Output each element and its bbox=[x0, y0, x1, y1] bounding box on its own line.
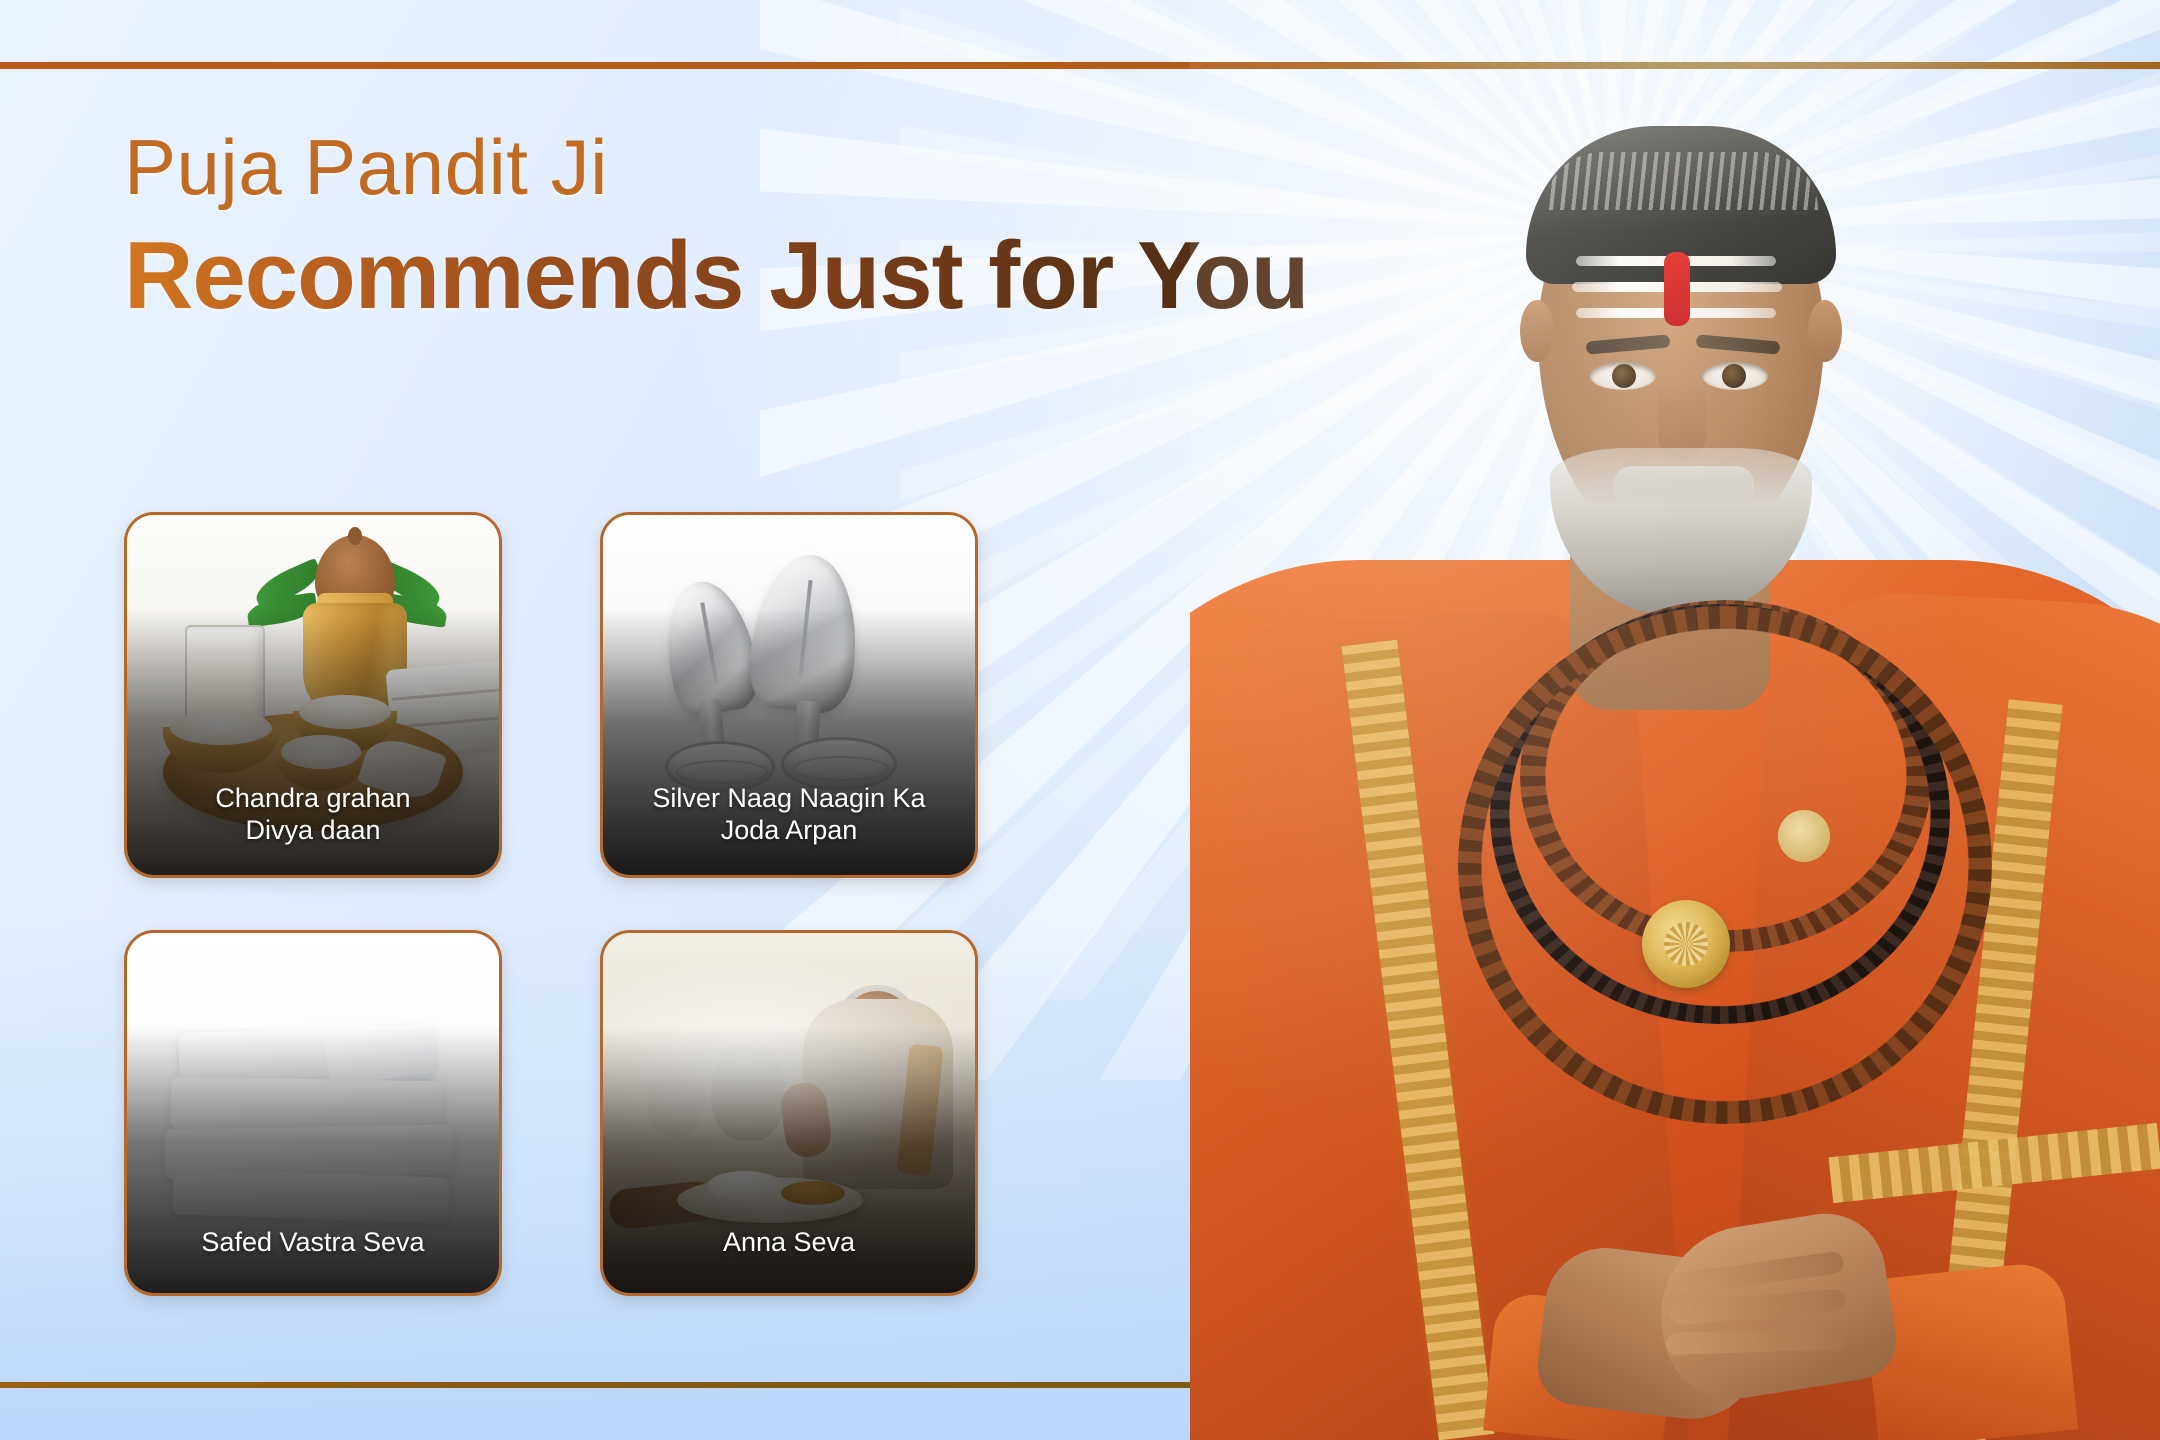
card-caption-line-1: Silver Naag Naagin Ka bbox=[615, 783, 963, 815]
small-gold-pendant bbox=[1778, 810, 1830, 862]
heading-line-2: Recommends Just for You bbox=[124, 228, 1308, 324]
card-caption-line-2: Divya daan bbox=[139, 815, 487, 847]
card-caption-line-1: Safed Vastra Seva bbox=[139, 1227, 487, 1259]
card-caption-line-1: Chandra grahan bbox=[139, 783, 487, 815]
heading-line-1: Puja Pandit Ji bbox=[124, 128, 1308, 206]
card-caption-line-2: Joda Arpan bbox=[615, 815, 963, 847]
iris-left bbox=[1612, 364, 1636, 388]
iris-right bbox=[1722, 364, 1746, 388]
card-caption: Silver Naag Naagin Ka Joda Arpan bbox=[615, 783, 963, 847]
pandit-portrait bbox=[1190, 0, 2160, 1440]
recommendation-card-silver-naag-naagin-ka-joda-arpan[interactable]: Silver Naag Naagin Ka Joda Arpan bbox=[600, 512, 978, 878]
gold-pendant bbox=[1642, 900, 1730, 988]
ear-left bbox=[1520, 300, 1554, 362]
card-caption-line-1: Anna Seva bbox=[615, 1227, 963, 1259]
card-caption: Anna Seva bbox=[615, 1227, 963, 1259]
recommendation-card-grid: Chandra grahan Divya daan Silver Naag Na… bbox=[124, 512, 1032, 1290]
card-caption: Safed Vastra Seva bbox=[139, 1227, 487, 1259]
recommendation-card-safed-vastra-seva[interactable]: Safed Vastra Seva bbox=[124, 930, 502, 1296]
rudraksha-mala-outer bbox=[1458, 606, 1992, 1124]
red-tilak bbox=[1664, 252, 1690, 326]
banner-heading: Puja Pandit Ji Recommends Just for You bbox=[124, 128, 1308, 324]
bottom-divider-line bbox=[0, 1382, 1203, 1388]
recommendation-card-chandra-grahan-divya-daan[interactable]: Chandra grahan Divya daan bbox=[124, 512, 502, 878]
card-caption: Chandra grahan Divya daan bbox=[139, 783, 487, 847]
ear-right bbox=[1808, 300, 1842, 362]
recommendation-card-anna-seva[interactable]: Anna Seva bbox=[600, 930, 978, 1296]
